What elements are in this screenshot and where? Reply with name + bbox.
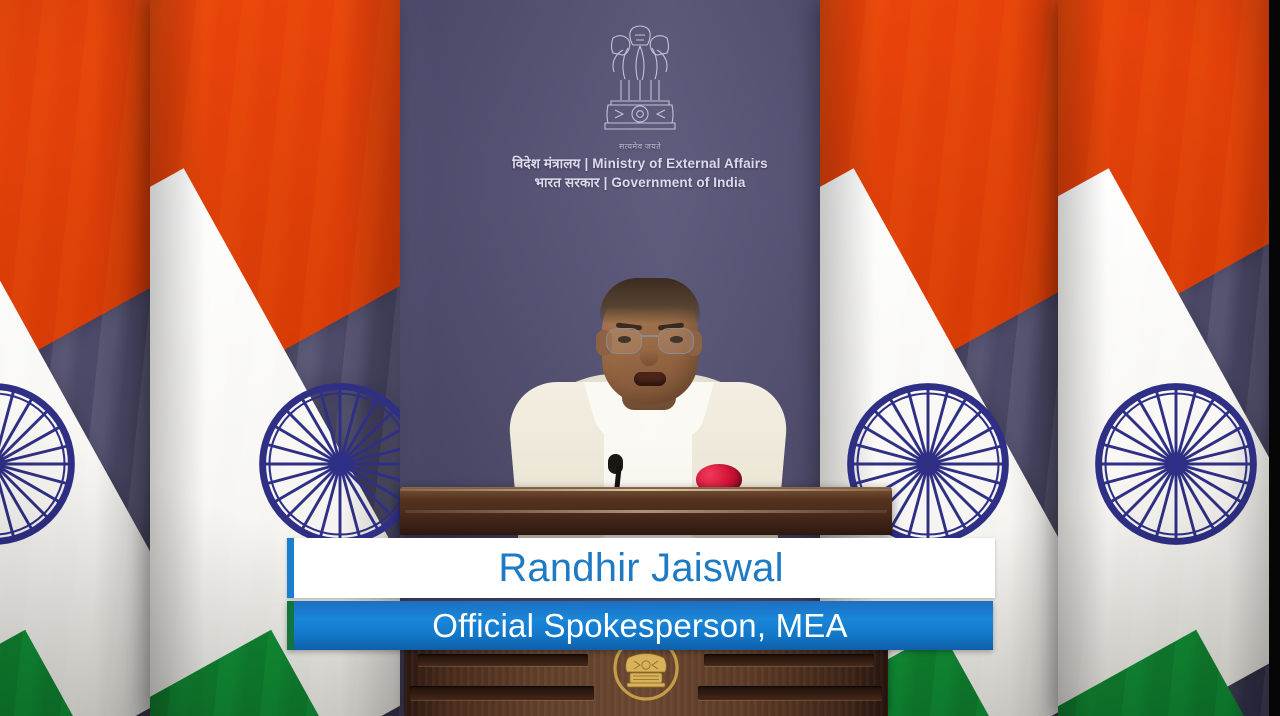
lectern-panel-left: [418, 654, 588, 666]
speaker-name: Randhir Jaiswal: [498, 548, 783, 588]
glasses-bridge: [640, 335, 658, 337]
lens-right: [658, 328, 694, 354]
lectern-gold-emblem-icon: [600, 640, 692, 714]
lower-third-title-bar: Official Spokesperson, MEA: [287, 601, 993, 650]
lower-third-name-bar: Randhir Jaiswal: [287, 538, 995, 598]
lectern-panel-right-2: [698, 686, 882, 700]
name-bar-accent: [287, 538, 294, 598]
lectern-panel-left-2: [410, 686, 594, 700]
speaker-mouth: [634, 372, 666, 386]
speaker-nose: [640, 340, 658, 366]
speaker-hair: [600, 278, 700, 324]
frame-right-edge: [1269, 0, 1280, 716]
lectern-top: [400, 487, 892, 535]
lectern-body: [404, 646, 888, 716]
lectern-panel-right: [704, 654, 874, 666]
broadcast-frame: सत्यमेव जयते विदेश मंत्रालय | Ministry o…: [0, 0, 1280, 716]
title-bar-accent: [287, 601, 294, 650]
lens-left: [606, 328, 642, 354]
speaker-title: Official Spokesperson, MEA: [432, 609, 847, 642]
